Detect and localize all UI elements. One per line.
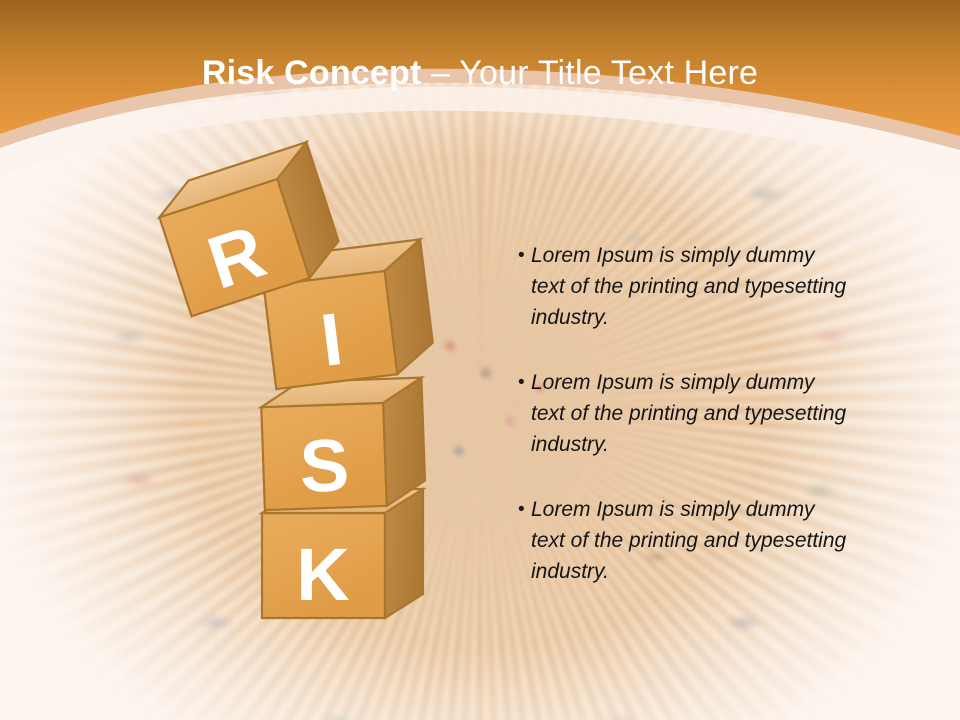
- bullet-marker-icon: •: [505, 367, 531, 398]
- bullet-text: Lorem Ipsum is simply dummy text of the …: [531, 494, 850, 587]
- bullet-marker-icon: •: [505, 240, 531, 271]
- title-bold-part: Risk Concept: [202, 54, 422, 92]
- list-item: • Lorem Ipsum is simply dummy text of th…: [505, 494, 850, 587]
- page-title: Risk Concept – Your Title Text Here: [0, 52, 960, 94]
- bullet-marker-icon: •: [505, 494, 531, 525]
- bullet-text: Lorem Ipsum is simply dummy text of the …: [531, 367, 850, 460]
- presentation-slide: Risk Concept – Your Title Text Here: [0, 0, 960, 720]
- bullet-text: Lorem Ipsum is simply dummy text of the …: [531, 240, 850, 333]
- list-item: • Lorem Ipsum is simply dummy text of th…: [505, 240, 850, 333]
- title-rest-part: – Your Title Text Here: [422, 54, 759, 92]
- list-item: • Lorem Ipsum is simply dummy text of th…: [505, 367, 850, 460]
- bullet-list: • Lorem Ipsum is simply dummy text of th…: [505, 240, 850, 621]
